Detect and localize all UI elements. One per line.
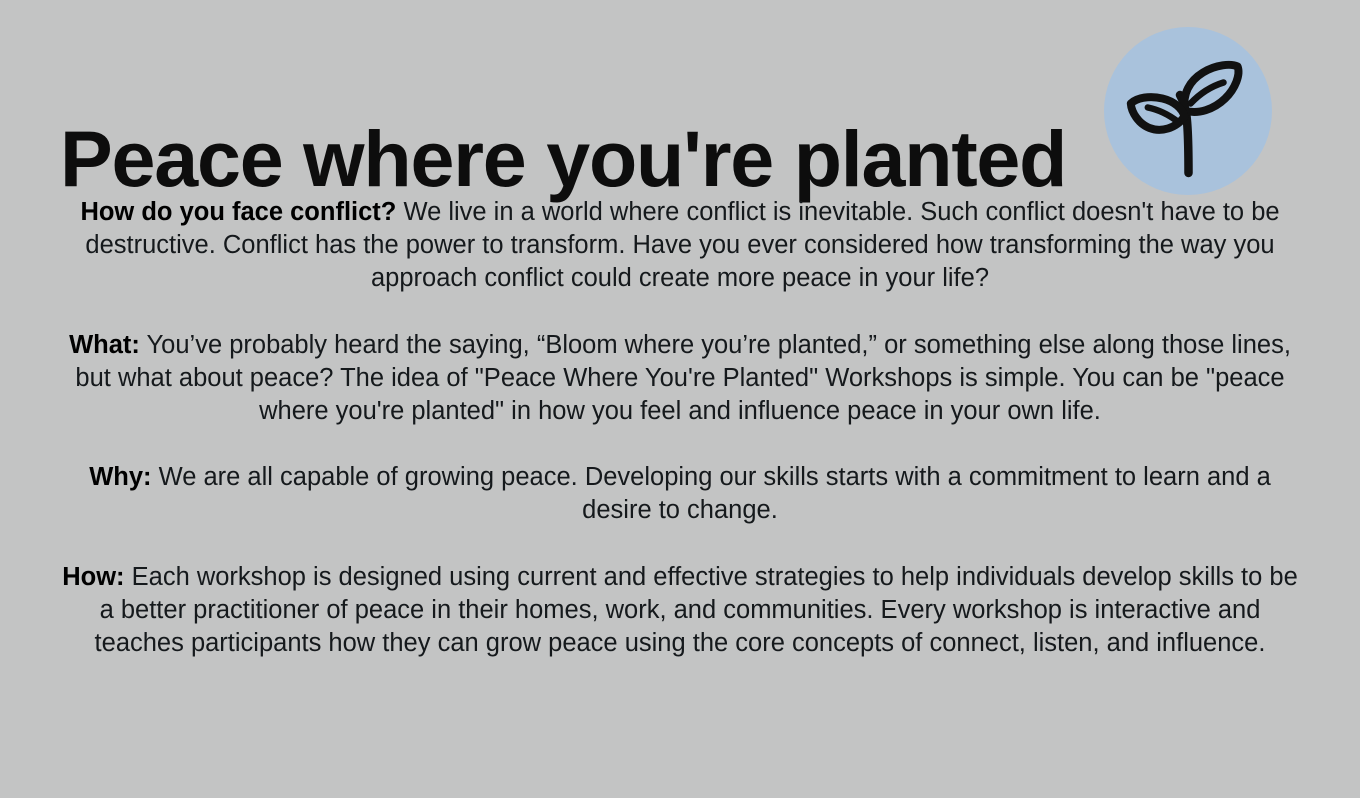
paragraph-lead-label: How do you face conflict? <box>80 198 396 226</box>
paragraph-how-do-you-face-conflict: How do you face conflict? We live in a w… <box>60 196 1300 296</box>
paragraph-text: Each workshop is designed using current … <box>95 563 1298 657</box>
slide-canvas: Peace where you're planted How do you fa… <box>0 0 1360 798</box>
paragraph-text: You’ve probably heard the saying, “Bloom… <box>75 331 1291 425</box>
paragraph-lead-label: How: <box>62 563 124 591</box>
brand-logo <box>1104 27 1272 195</box>
paragraph-how: How: Each workshop is designed using cur… <box>60 561 1300 661</box>
paragraph-text: We are all capable of growing peace. Dev… <box>152 463 1271 524</box>
body-content: How do you face conflict? We live in a w… <box>60 196 1300 660</box>
page-title: Peace where you're planted <box>60 119 1090 198</box>
paragraph-lead-label: Why: <box>89 463 151 491</box>
paragraph-what: What: You’ve probably heard the saying, … <box>60 329 1300 429</box>
paragraph-why: Why: We are all capable of growing peace… <box>60 461 1300 527</box>
sprout-icon <box>1104 27 1272 195</box>
paragraph-lead-label: What: <box>69 331 140 359</box>
